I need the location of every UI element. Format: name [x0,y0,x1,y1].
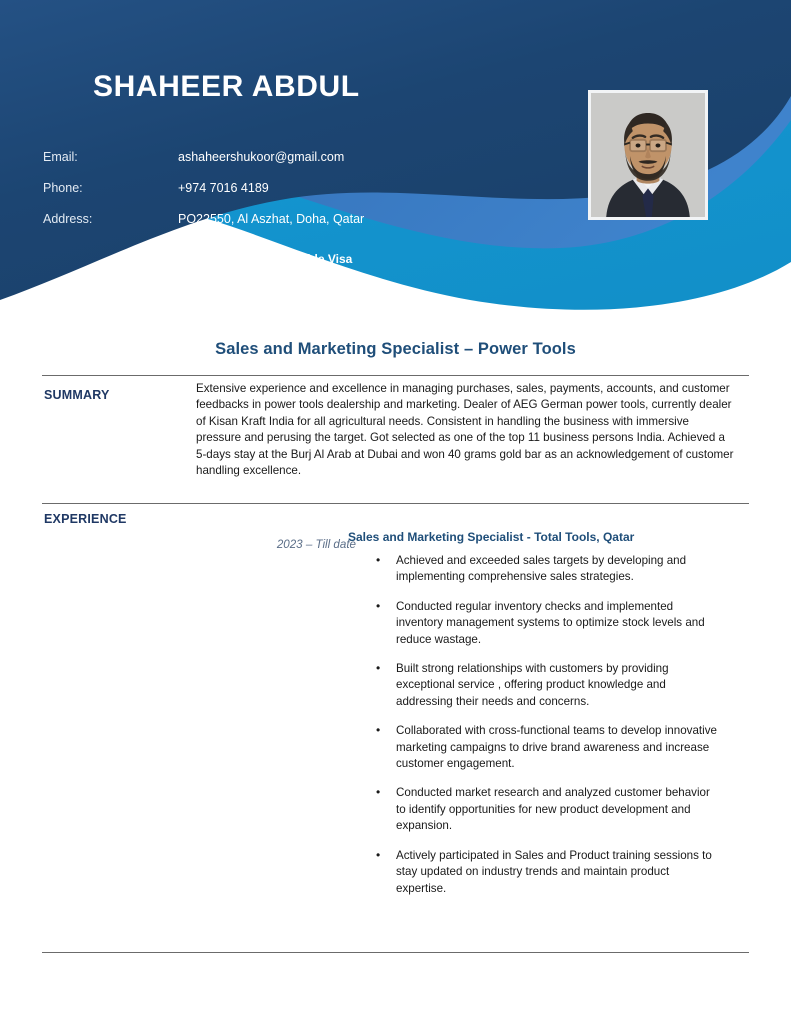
divider-top [42,375,749,376]
resume-page: SHAHEER ABDUL Email: ashaheershukoor@gma… [0,0,791,1024]
contact-value-address: PO22550, Al Aszhat, Doha, Qatar [178,212,364,226]
contact-label-phone: Phone: [43,181,83,195]
experience-bullet: Built strong relationships with customer… [372,661,722,710]
contact-row-phone: Phone: +974 7016 4189 [43,181,473,212]
contact-row-address: Address: PO22550, Al Aszhat, Doha, Qatar [43,212,473,243]
divider-bottom [42,952,749,953]
experience-bullet: Achieved and exceeded sales targets by d… [372,553,722,586]
contact-row-email: Email: ashaheershukoor@gmail.com [43,150,473,181]
contact-label-email: Email: [43,150,78,164]
page-title: SHAHEER ABDUL [93,70,360,104]
avatar [588,90,708,220]
experience-bullet: Actively participated in Sales and Produ… [372,848,722,897]
experience-bullet: Conducted market research and analyzed c… [372,785,722,834]
header-banner: SHAHEER ABDUL Email: ashaheershukoor@gma… [0,0,791,330]
section-heading-experience: EXPERIENCE [44,512,127,526]
contact-label-address: Address: [43,212,92,226]
divider-middle [42,503,749,504]
section-heading-summary: SUMMARY [44,388,110,402]
experience-job-title: Sales and Marketing Specialist - Total T… [348,530,634,544]
experience-dates: 2023 – Till date [206,538,356,551]
visa-status: Visa Status : Transferable Visa [178,252,352,266]
contact-value-phone[interactable]: +974 7016 4189 [178,181,269,195]
summary-text: Extensive experience and excellence in m… [196,381,736,479]
avatar-image [591,93,705,217]
document-title: Sales and Marketing Specialist – Power T… [0,340,791,359]
contact-value-email[interactable]: ashaheershukoor@gmail.com [178,150,344,164]
experience-bullet: Collaborated with cross-functional teams… [372,723,722,772]
experience-bullet: Conducted regular inventory checks and i… [372,599,722,648]
contact-block: Email: ashaheershukoor@gmail.com Phone: … [43,150,473,243]
experience-bullet-list: Achieved and exceeded sales targets by d… [372,553,722,910]
